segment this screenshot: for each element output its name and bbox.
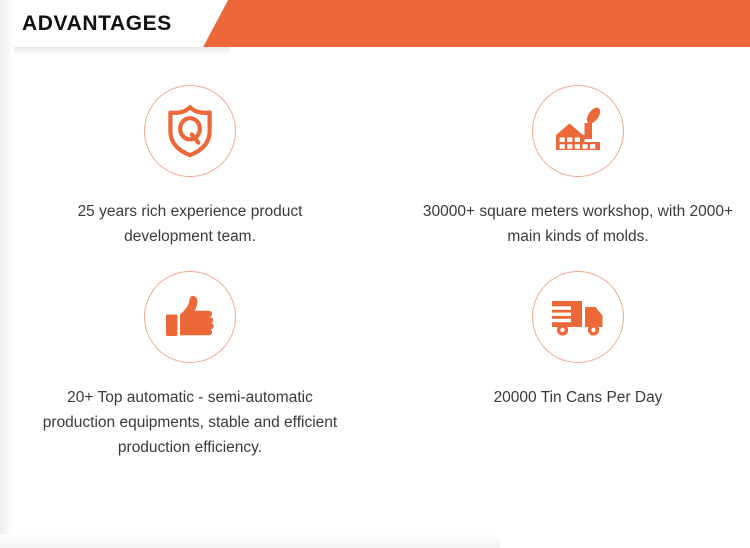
advantage-text: 25 years rich experience product develop… — [40, 199, 340, 249]
icon-circle-equipment — [144, 271, 236, 363]
thumbs-up-icon — [163, 292, 217, 342]
advantage-item-quality: 25 years rich experience product develop… — [0, 85, 360, 249]
section-header-banner: ADVANTAGES — [0, 0, 750, 47]
advantage-item-equipment: 20+ Top automatic - semi-automatic produ… — [0, 271, 360, 460]
advantage-text: 20+ Top automatic - semi-automatic produ… — [40, 385, 340, 460]
advantages-section: ADVANTAGES 25 years rich experience prod… — [0, 0, 750, 548]
icon-circle-capacity — [532, 271, 624, 363]
advantage-item-workshop: 30000+ square meters workshop, with 2000… — [390, 85, 750, 249]
page-title: ADVANTAGES — [22, 0, 172, 47]
shield-quality-icon — [164, 104, 216, 158]
advantages-grid: 25 years rich experience product develop… — [0, 85, 750, 460]
advantage-item-capacity: 20000 Tin Cans Per Day — [390, 271, 750, 460]
banner-underline-shadow — [0, 47, 230, 55]
advantage-text: 30000+ square meters workshop, with 2000… — [418, 199, 738, 249]
icon-circle-workshop — [532, 85, 624, 177]
advantage-text: 20000 Tin Cans Per Day — [418, 385, 738, 410]
bottom-edge-shading — [0, 534, 500, 548]
delivery-truck-icon — [549, 293, 607, 341]
icon-circle-quality — [144, 85, 236, 177]
factory-icon — [550, 104, 606, 158]
